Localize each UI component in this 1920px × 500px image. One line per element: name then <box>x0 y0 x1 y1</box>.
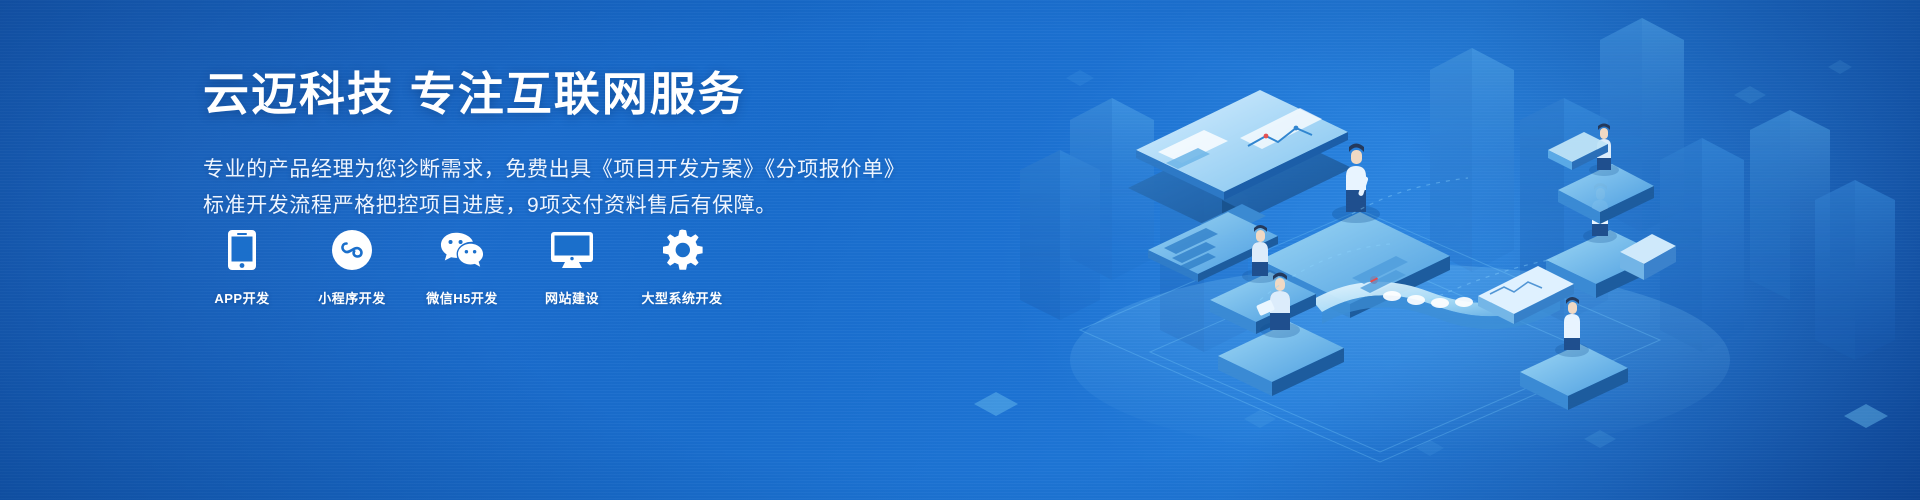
banner-subtitle: 专业的产品经理为您诊断需求，免费出具《项目开发方案》《分项报价单》 标准开发流程… <box>203 152 963 224</box>
promo-banner: 云迈科技 专注互联网服务 专业的产品经理为您诊断需求，免费出具《项目开发方案》《… <box>0 0 1920 500</box>
mobile-phone-icon <box>220 228 264 272</box>
service-label-miniprogram: 小程序开发 <box>318 288 386 307</box>
service-item-wechat[interactable]: 微信H5开发 <box>425 228 499 307</box>
service-icon-list: APP开发 小程序开发 微信 <box>205 228 719 307</box>
service-item-miniprogram[interactable]: 小程序开发 <box>315 228 389 307</box>
subtitle-line-2: 标准开发流程严格把控项目进度，9项交付资料售后有保障。 <box>203 188 963 224</box>
wechat-icon <box>440 228 484 272</box>
subtitle-line-1: 专业的产品经理为您诊断需求，免费出具《项目开发方案》《分项报价单》 <box>203 152 963 188</box>
banner-copy: 云迈科技 专注互联网服务 专业的产品经理为您诊断需求，免费出具《项目开发方案》《… <box>203 66 963 224</box>
monitor-icon <box>550 228 594 272</box>
mini-program-icon <box>330 228 374 272</box>
service-label-website: 网站建设 <box>545 288 599 307</box>
figure-hero <box>1332 144 1380 224</box>
service-item-app[interactable]: APP开发 <box>205 228 279 307</box>
service-label-wechat: 微信H5开发 <box>426 288 498 307</box>
service-label-system: 大型系统开发 <box>642 288 723 307</box>
page-title: 云迈科技 专注互联网服务 <box>203 66 963 124</box>
service-item-website[interactable]: 网站建设 <box>535 228 609 307</box>
isometric-tech-city-illustration <box>960 0 1920 500</box>
service-item-system[interactable]: 大型系统开发 <box>645 228 719 307</box>
gear-icon <box>660 228 704 272</box>
service-label-app: APP开发 <box>214 288 269 307</box>
